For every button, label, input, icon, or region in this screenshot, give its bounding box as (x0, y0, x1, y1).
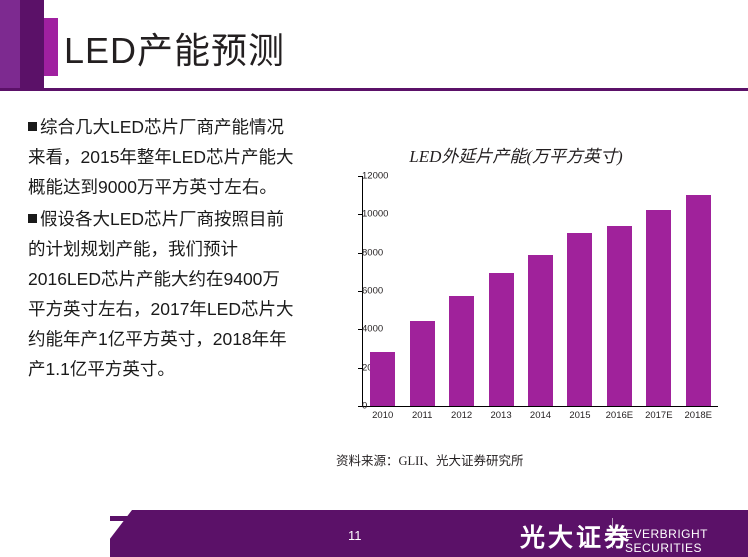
x-axis-line (362, 406, 718, 407)
footer-stripe-1 (110, 516, 200, 521)
square-bullet-icon (28, 214, 37, 223)
bar (686, 195, 711, 406)
footer-left-white (0, 510, 110, 557)
bar (528, 255, 553, 406)
chart-plot-area: 020004000600080001000012000 201020112012… (328, 176, 718, 406)
paragraph-1-text: 综合几大LED芯片厂商产能情况来看，2015年整年LED芯片产能大概能达到900… (28, 117, 293, 197)
bar (449, 296, 474, 406)
y-axis-tick-mark (358, 368, 362, 369)
footer-stripe-3 (134, 536, 200, 541)
bar (370, 352, 395, 406)
paragraph-2-text: 假设各大LED芯片厂商按照目前的计划规划产能，我们预计2016LED芯片产能大约… (28, 209, 293, 379)
bar (489, 273, 514, 406)
chart-source-note: 资料来源：GLII、光大证券研究所 (336, 450, 524, 469)
square-bullet-icon (28, 122, 37, 131)
footer-stripe-2 (122, 526, 200, 531)
x-axis-tick-label: 2018E (675, 410, 721, 421)
bullet-paragraph-2: 假设各大LED芯片厂商按照目前的计划规划产能，我们预计2016LED芯片产能大约… (28, 204, 296, 384)
y-axis-tick-mark (358, 176, 362, 177)
bar-series (363, 176, 718, 406)
bar (410, 321, 435, 406)
brand-name-cn: 光大证券 (520, 518, 632, 554)
bar (646, 210, 671, 406)
y-axis-tick-mark (358, 214, 362, 215)
left-text-column: 综合几大LED芯片厂商产能情况来看，2015年整年LED芯片产能大概能达到900… (28, 112, 296, 386)
y-axis-tick-mark (358, 406, 362, 407)
y-axis-tick-mark (358, 291, 362, 292)
y-axis-tick-mark (358, 253, 362, 254)
bullet-paragraph-1: 综合几大LED芯片厂商产能情况来看，2015年整年LED芯片产能大概能达到900… (28, 112, 296, 202)
bar (567, 233, 592, 406)
y-axis-tick-mark (358, 329, 362, 330)
top-left-purple-accent (0, 0, 20, 88)
page-number: 11 (348, 528, 362, 543)
page-title: LED产能预测 (64, 22, 285, 74)
brand-name-en: EVERBRIGHT SECURITIES (625, 527, 748, 555)
chart-container: LED外延片产能(万平方英寸) 020004000600080001000012… (306, 120, 726, 480)
chart-title: LED外延片产能(万平方英寸) (306, 142, 726, 167)
title-accent-bar (44, 18, 58, 76)
bar (607, 226, 632, 406)
header-divider (0, 88, 748, 91)
